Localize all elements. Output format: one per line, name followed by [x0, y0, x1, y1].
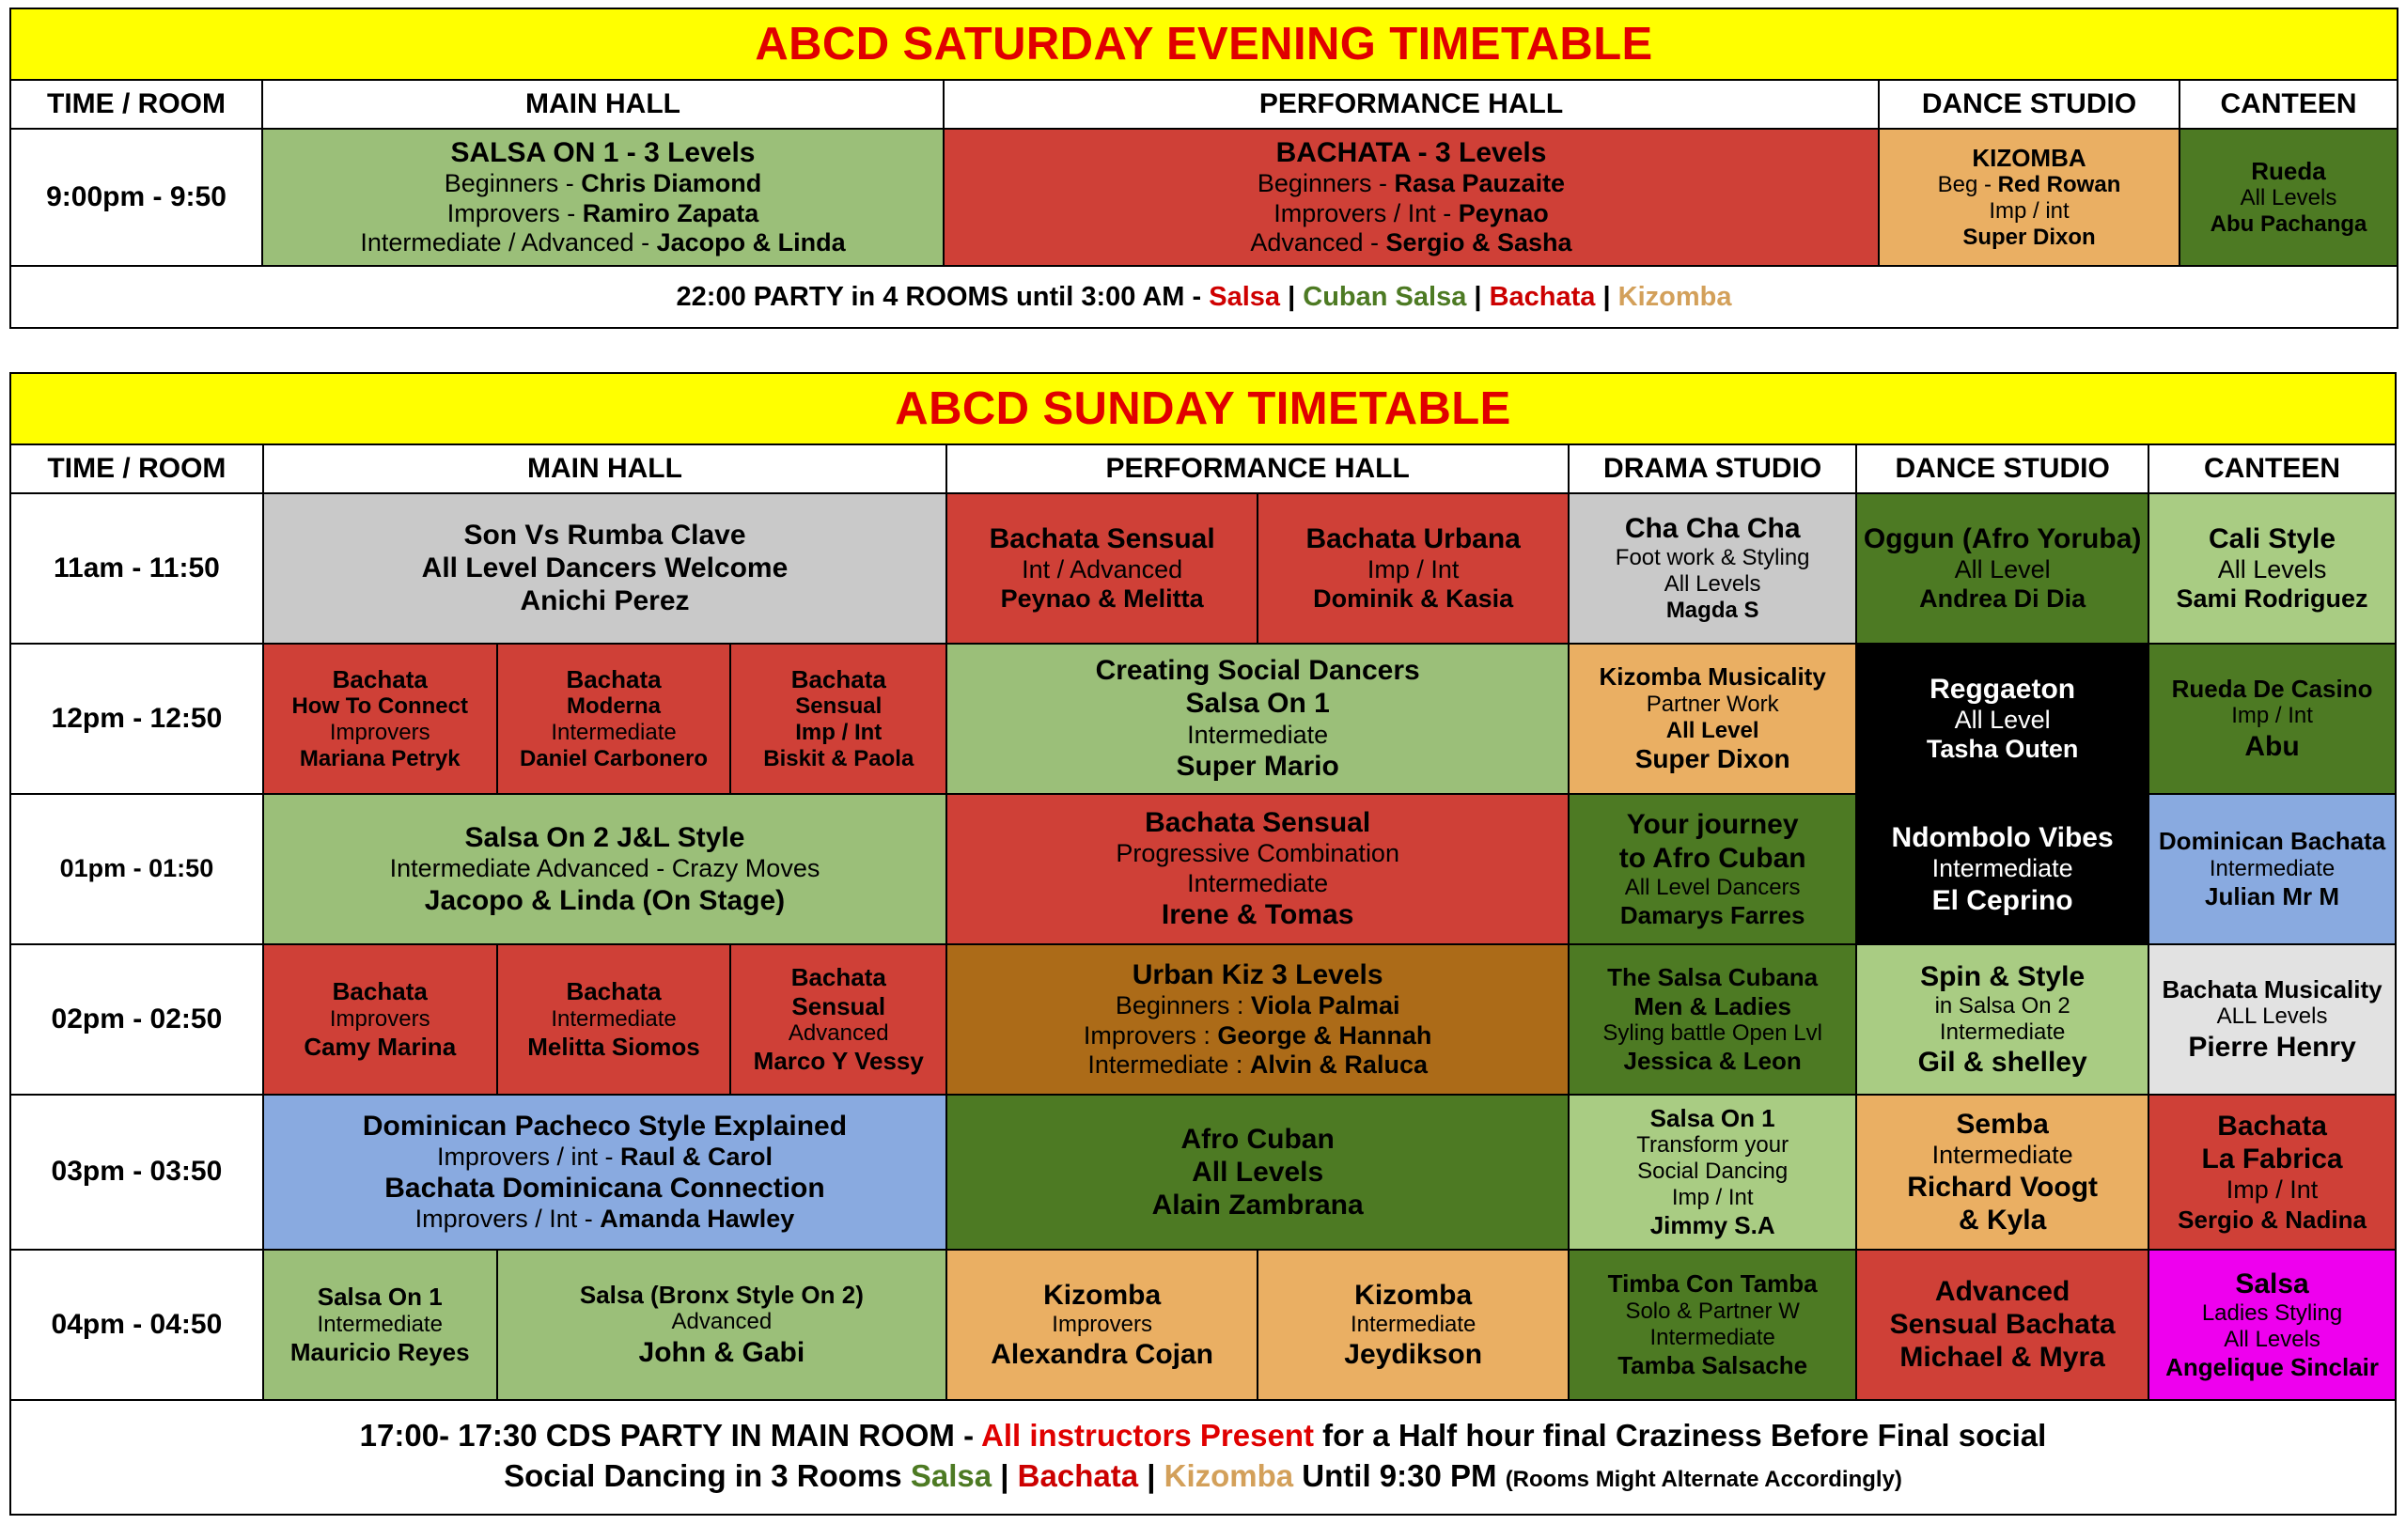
session-cell[interactable]: Rueda All Levels Abu Pachanga: [2179, 129, 2398, 266]
session-line: Intermediate / Advanced - Jacopo & Linda: [269, 228, 937, 258]
session-cell[interactable]: KIZOMBA Beg - Red Rowan Imp / int Super …: [1879, 129, 2179, 266]
session-title: Kizomba Musicality: [1575, 662, 1850, 691]
saturday-party-note: 22:00 PARTY in 4 ROOMS until 3:00 AM - S…: [10, 266, 2398, 328]
session-title: Rueda: [2186, 157, 2391, 185]
session-title: KIZOMBA: [1885, 144, 2173, 172]
session-line: Beg - Red Rowan: [1885, 172, 2173, 198]
session-cell[interactable]: Bachata Intermediate Melitta Siomos: [497, 944, 731, 1095]
session-line: Abu Pachanga: [2186, 211, 2391, 238]
session-line: All Level Dancers: [1575, 875, 1850, 901]
session-title: Bachata: [2155, 1110, 2389, 1143]
session-cell[interactable]: Spin & Style in Salsa On 2 Intermediate …: [1856, 944, 2148, 1095]
session-line: Advanced: [504, 1309, 941, 1335]
session-cell[interactable]: Advanced Sensual Bachata Michael & Myra: [1856, 1250, 2148, 1400]
session-title: Ndombolo Vibes: [1863, 821, 2142, 854]
session-cell[interactable]: Urban Kiz 3 Levels Beginners : Viola Pal…: [946, 944, 1569, 1095]
session-line: Beginners : Viola Palmai: [953, 991, 1562, 1021]
session-line: Super Dixon: [1885, 225, 2173, 251]
session-line: ALL Levels: [2155, 1003, 2389, 1030]
session-line: Syling battle Open Lvl: [1575, 1020, 1850, 1047]
session-line: Improvers / Int - Amanda Hawley: [270, 1205, 940, 1235]
sunday-footer-row: 17:00- 17:30 CDS PARTY IN MAIN ROOM - Al…: [10, 1400, 2396, 1515]
time-label: 9:00pm - 9:50: [10, 129, 262, 266]
table-row: 04pm - 04:50 Salsa On 1 Intermediate Mau…: [10, 1250, 2396, 1400]
session-title: Bachata: [270, 977, 491, 1005]
session-line: Salsa On 1: [953, 687, 1562, 720]
session-line: Gil & shelley: [1863, 1046, 2142, 1079]
session-line: Imp / Int: [2155, 1175, 2389, 1206]
session-line: All Levels: [2186, 185, 2391, 211]
table-row: 9:00pm - 9:50 SALSA ON 1 - 3 Levels Begi…: [10, 129, 2398, 266]
session-line: Improvers / int - Raul & Carol: [270, 1143, 940, 1173]
session-cell[interactable]: Bachata Sensual Progressive Combination …: [946, 794, 1569, 944]
session-cell[interactable]: Bachata Improvers Camy Marina: [263, 944, 497, 1095]
session-line: Dominik & Kasia: [1264, 584, 1562, 614]
table-row: 03pm - 03:50 Dominican Pacheco Style Exp…: [10, 1095, 2396, 1250]
session-title: Salsa On 1: [270, 1283, 491, 1311]
session-title: Bachata: [737, 665, 940, 693]
session-cell[interactable]: Kizomba Improvers Alexandra Cojan: [946, 1250, 1258, 1400]
session-line: Ladies Styling: [2155, 1300, 2389, 1327]
session-cell[interactable]: Bachata How To Connect Improvers Mariana…: [263, 644, 497, 794]
session-line: El Ceprino: [1863, 884, 2142, 917]
column-header-main-hall: MAIN HALL: [262, 80, 944, 129]
session-line: Intermediate: [953, 869, 1562, 899]
session-line: Jimmy S.A: [1575, 1211, 1850, 1239]
session-title: Salsa On 1: [1575, 1104, 1850, 1132]
session-cell[interactable]: Salsa Ladies Styling All Levels Angeliqu…: [2148, 1250, 2396, 1400]
table-row: 01pm - 01:50 Salsa On 2 J&L Style Interm…: [10, 794, 2396, 944]
session-title: Dominican Bachata: [2155, 827, 2389, 855]
session-line: Tamba Salsache: [1575, 1351, 1850, 1379]
session-title: Cali Style: [2155, 522, 2389, 555]
session-line: Alexandra Cojan: [953, 1338, 1251, 1371]
session-title: BACHATA - 3 Levels: [950, 136, 1872, 169]
session-cell[interactable]: Salsa (Bronx Style On 2) Advanced John &…: [497, 1250, 947, 1400]
session-line: Intermediate: [2155, 856, 2389, 882]
session-cell[interactable]: Oggun (Afro Yoruba) All Level Andrea Di …: [1856, 493, 2148, 644]
session-line: Improvers: [953, 1312, 1251, 1338]
sunday-header-row: TIME / ROOM MAIN HALL PERFORMANCE HALL D…: [10, 444, 2396, 493]
session-line: All Levels: [1575, 571, 1850, 598]
session-line: Intermediate : Alvin & Raluca: [953, 1050, 1562, 1081]
session-line: Andrea Di Dia: [1863, 584, 2142, 614]
column-header-dance-studio: DANCE STUDIO: [1856, 444, 2148, 493]
session-title: Reggaeton: [1863, 673, 2142, 706]
column-header-main-hall: MAIN HALL: [263, 444, 946, 493]
column-header-drama-studio: DRAMA STUDIO: [1569, 444, 1856, 493]
session-line: Intermediate: [1863, 854, 2142, 884]
session-line: Daniel Carbonero: [504, 746, 725, 772]
session-line: Mariana Petryk: [270, 746, 491, 772]
session-title: Spin & Style: [1863, 960, 2142, 993]
session-line: Imp / Int: [2155, 703, 2389, 729]
session-line: Int / Advanced: [953, 555, 1251, 585]
session-line: Moderna: [504, 693, 725, 720]
timetable-page: ABCD SATURDAY EVENING TIMETABLE TIME / R…: [0, 0, 2406, 1525]
session-cell[interactable]: Cha Cha Cha Foot work & Styling All Leve…: [1569, 493, 1856, 644]
session-line: Sensual: [737, 992, 940, 1020]
session-line: Jacopo & Linda (On Stage): [270, 884, 940, 917]
session-cell[interactable]: Reggaeton All Level Tasha Outen: [1856, 644, 2148, 794]
session-cell[interactable]: Bachata Musicality ALL Levels Pierre Hen…: [2148, 944, 2396, 1095]
session-line: Advanced: [737, 1020, 940, 1047]
session-title: Urban Kiz 3 Levels: [953, 958, 1562, 991]
session-title: Your journey: [1575, 808, 1850, 841]
session-title: Afro Cuban: [953, 1123, 1562, 1156]
session-line: Super Dixon: [1575, 744, 1850, 775]
session-cell[interactable]: The Salsa Cubana Men & Ladies Syling bat…: [1569, 944, 1856, 1095]
session-line: Partner Work: [1575, 692, 1850, 718]
session-title: Bachata Musicality: [2155, 975, 2389, 1003]
session-line: Intermediate: [504, 720, 725, 746]
saturday-timetable: ABCD SATURDAY EVENING TIMETABLE TIME / R…: [9, 8, 2398, 329]
saturday-note-row: 22:00 PARTY in 4 ROOMS until 3:00 AM - S…: [10, 266, 2398, 328]
session-title: Bachata: [504, 977, 725, 1005]
session-title: Cha Cha Cha: [1575, 512, 1850, 545]
saturday-banner-row: ABCD SATURDAY EVENING TIMETABLE: [10, 8, 2398, 80]
session-line: Social Dancing: [1575, 1159, 1850, 1185]
session-title: Semba: [1863, 1108, 2142, 1141]
session-title: Bachata: [737, 963, 940, 991]
session-line: in Salsa On 2: [1863, 993, 2142, 1019]
session-cell[interactable]: Dominican Pacheco Style Explained Improv…: [263, 1095, 946, 1250]
session-line: La Fabrica: [2155, 1143, 2389, 1175]
session-cell[interactable]: Bachata La Fabrica Imp / Int Sergio & Na…: [2148, 1095, 2396, 1250]
session-cell[interactable]: Bachata Sensual Imp / Int Biskit & Paola: [730, 644, 946, 794]
session-title: Salsa: [2155, 1268, 2389, 1300]
session-title: Bachata Urbana: [1264, 522, 1562, 555]
sunday-timetable: ABCD SUNDAY TIMETABLE TIME / ROOM MAIN H…: [9, 372, 2397, 1516]
session-title: Rueda De Casino: [2155, 675, 2389, 703]
session-line: Men & Ladies: [1575, 992, 1850, 1020]
session-line: Pierre Henry: [2155, 1031, 2389, 1064]
session-line: Improvers: [270, 1006, 491, 1033]
session-line: Jeydikson: [1264, 1338, 1562, 1371]
session-line: Julian Mr M: [2155, 882, 2389, 910]
session-cell[interactable]: Bachata Urbana Imp / Int Dominik & Kasia: [1258, 493, 1569, 644]
sunday-footer: 17:00- 17:30 CDS PARTY IN MAIN ROOM - Al…: [10, 1400, 2396, 1515]
session-line: Beginners - Chris Diamond: [269, 169, 937, 199]
session-title: Salsa (Bronx Style On 2): [504, 1281, 941, 1309]
session-cell[interactable]: Semba Intermediate Richard Voogt & Kyla: [1856, 1095, 2148, 1250]
column-header-time: TIME / ROOM: [10, 444, 263, 493]
column-header-performance-hall: PERFORMANCE HALL: [946, 444, 1569, 493]
session-cell[interactable]: Salsa On 1 Transform your Social Dancing…: [1569, 1095, 1856, 1250]
session-line: All Level Dancers Welcome: [270, 552, 940, 584]
session-line: Intermediate: [1575, 1325, 1850, 1351]
session-line: Improvers / Int - Peynao: [950, 199, 1872, 229]
session-cell[interactable]: SALSA ON 1 - 3 Levels Beginners - Chris …: [262, 129, 944, 266]
saturday-header-row: TIME / ROOM MAIN HALL PERFORMANCE HALL D…: [10, 80, 2398, 129]
session-title: The Salsa Cubana: [1575, 963, 1850, 991]
session-cell[interactable]: Bachata Sensual Advanced Marco Y Vessy: [730, 944, 946, 1095]
session-line: Solo & Partner W: [1575, 1299, 1850, 1325]
session-cell[interactable]: Ndombolo Vibes Intermediate El Ceprino: [1856, 794, 2148, 944]
session-line: John & Gabi: [504, 1336, 941, 1369]
session-title: Kizomba: [1264, 1279, 1562, 1312]
session-cell[interactable]: Afro Cuban All Levels Alain Zambrana: [946, 1095, 1569, 1250]
session-cell[interactable]: Cali Style All Levels Sami Rodriguez: [2148, 493, 2396, 644]
column-header-canteen: CANTEEN: [2148, 444, 2396, 493]
session-line: Anichi Perez: [270, 584, 940, 617]
session-line: Sensual: [737, 693, 940, 720]
session-line: Intermediate: [1863, 1141, 2142, 1171]
session-cell[interactable]: Timba Con Tamba Solo & Partner W Interme…: [1569, 1250, 1856, 1400]
session-title: Son Vs Rumba Clave: [270, 519, 940, 552]
session-cell[interactable]: BACHATA - 3 Levels Beginners - Rasa Pauz…: [944, 129, 1879, 266]
session-line: Sergio & Nadina: [2155, 1206, 2389, 1234]
time-label: 11am - 11:50: [10, 493, 263, 644]
session-title: Dominican Pacheco Style Explained: [270, 1110, 940, 1143]
sunday-banner: ABCD SUNDAY TIMETABLE: [10, 373, 2396, 444]
session-line: All Levels: [2155, 1327, 2389, 1353]
session-line: & Kyla: [1863, 1204, 2142, 1237]
session-line: All Level: [1575, 718, 1850, 744]
session-line: Improvers : George & Hannah: [953, 1021, 1562, 1051]
session-line: Intermediate Advanced - Crazy Moves: [270, 854, 940, 884]
session-line: All Levels: [953, 1156, 1562, 1189]
session-line: Imp / Int: [1264, 555, 1562, 585]
session-cell[interactable]: Son Vs Rumba Clave All Level Dancers Wel…: [263, 493, 946, 644]
session-line: Intermediate: [953, 721, 1562, 751]
session-line: Intermediate: [1264, 1312, 1562, 1338]
session-line: Intermediate: [504, 1006, 725, 1033]
time-label: 03pm - 03:50: [10, 1095, 263, 1250]
session-line: Marco Y Vessy: [737, 1047, 940, 1075]
session-line: Angelique Sinclair: [2155, 1353, 2389, 1381]
session-line: All Level: [1863, 706, 2142, 736]
session-cell[interactable]: Bachata Moderna Intermediate Daniel Carb…: [497, 644, 731, 794]
session-cell[interactable]: Kizomba Musicality Partner Work All Leve…: [1569, 644, 1856, 794]
session-cell[interactable]: Rueda De Casino Imp / Int Abu: [2148, 644, 2396, 794]
session-line: Jessica & Leon: [1575, 1047, 1850, 1075]
footer-line-2: Social Dancing in 3 Rooms Salsa | Bachat…: [21, 1456, 2385, 1497]
session-title: Kizomba: [953, 1279, 1251, 1312]
session-title: Bachata: [270, 665, 491, 693]
session-line: All Levels: [2155, 555, 2389, 585]
session-cell[interactable]: Creating Social Dancers Salsa On 1 Inter…: [946, 644, 1569, 794]
session-title: Bachata: [504, 665, 725, 693]
column-header-time: TIME / ROOM: [10, 80, 262, 129]
session-line: Sami Rodriguez: [2155, 584, 2389, 614]
table-row: 12pm - 12:50 Bachata How To Connect Impr…: [10, 644, 2396, 794]
session-line: Sensual Bachata: [1863, 1308, 2142, 1341]
session-title: Oggun (Afro Yoruba): [1863, 522, 2142, 555]
session-line: Intermediate: [1863, 1019, 2142, 1046]
session-line: Alain Zambrana: [953, 1189, 1562, 1221]
session-line: Imp / Int: [737, 720, 940, 746]
column-header-dance-studio: DANCE STUDIO: [1879, 80, 2179, 129]
time-label: 04pm - 04:50: [10, 1250, 263, 1400]
session-line: Improvers: [270, 720, 491, 746]
session-title: Salsa On 2 J&L Style: [270, 821, 940, 854]
session-line: Melitta Siomos: [504, 1033, 725, 1061]
sunday-banner-row: ABCD SUNDAY TIMETABLE: [10, 373, 2396, 444]
session-line: All Level: [1863, 555, 2142, 585]
section-spacer: [9, 329, 2397, 372]
session-line: Improvers - Ramiro Zapata: [269, 199, 937, 229]
session-line: Advanced - Sergio & Sasha: [950, 228, 1872, 258]
session-line: Mauricio Reyes: [270, 1338, 491, 1366]
session-line: Progressive Combination: [953, 839, 1562, 869]
table-row: 11am - 11:50 Son Vs Rumba Clave All Leve…: [10, 493, 2396, 644]
session-title: SALSA ON 1 - 3 Levels: [269, 136, 937, 169]
session-line: Beginners - Rasa Pauzaite: [950, 169, 1872, 199]
session-line: Imp / Int: [1575, 1185, 1850, 1211]
session-line: Peynao & Melitta: [953, 584, 1251, 614]
column-header-canteen: CANTEEN: [2179, 80, 2398, 129]
session-cell[interactable]: Your journey to Afro Cuban All Level Dan…: [1569, 794, 1856, 944]
session-title: Bachata Sensual: [953, 522, 1251, 555]
session-cell[interactable]: Dominican Bachata Intermediate Julian Mr…: [2148, 794, 2396, 944]
session-line: Transform your: [1575, 1132, 1850, 1159]
session-line: Tasha Outen: [1863, 735, 2142, 765]
session-cell[interactable]: Kizomba Intermediate Jeydikson: [1258, 1250, 1569, 1400]
saturday-banner: ABCD SATURDAY EVENING TIMETABLE: [10, 8, 2398, 80]
session-line: Biskit & Paola: [737, 746, 940, 772]
session-line: Magda S: [1575, 598, 1850, 624]
session-line: Irene & Tomas: [953, 898, 1562, 931]
time-label: 01pm - 01:50: [10, 794, 263, 944]
session-line: Michael & Myra: [1863, 1341, 2142, 1374]
column-header-performance-hall: PERFORMANCE HALL: [944, 80, 1879, 129]
session-line: Bachata Dominicana Connection: [270, 1172, 940, 1205]
time-label: 02pm - 02:50: [10, 944, 263, 1095]
time-label: 12pm - 12:50: [10, 644, 263, 794]
session-title: Advanced: [1863, 1275, 2142, 1308]
session-line: to Afro Cuban: [1575, 842, 1850, 875]
session-line: Super Mario: [953, 750, 1562, 783]
session-line: Richard Voogt: [1863, 1171, 2142, 1204]
footer-line-1: 17:00- 17:30 CDS PARTY IN MAIN ROOM - Al…: [21, 1416, 2385, 1456]
session-line: Imp / int: [1885, 198, 2173, 225]
session-line: Intermediate: [270, 1312, 491, 1338]
session-cell[interactable]: Salsa On 2 J&L Style Intermediate Advanc…: [263, 794, 946, 944]
session-cell[interactable]: Salsa On 1 Intermediate Mauricio Reyes: [263, 1250, 497, 1400]
session-line: Damarys Farres: [1575, 901, 1850, 929]
session-line: Abu: [2155, 730, 2389, 763]
session-line: Foot work & Styling: [1575, 545, 1850, 571]
session-line: How To Connect: [270, 693, 491, 720]
table-row: 02pm - 02:50 Bachata Improvers Camy Mari…: [10, 944, 2396, 1095]
session-title: Timba Con Tamba: [1575, 1269, 1850, 1298]
session-title: Bachata Sensual: [953, 806, 1562, 839]
session-line: Camy Marina: [270, 1033, 491, 1061]
session-title: Creating Social Dancers: [953, 654, 1562, 687]
session-cell[interactable]: Bachata Sensual Int / Advanced Peynao & …: [946, 493, 1258, 644]
